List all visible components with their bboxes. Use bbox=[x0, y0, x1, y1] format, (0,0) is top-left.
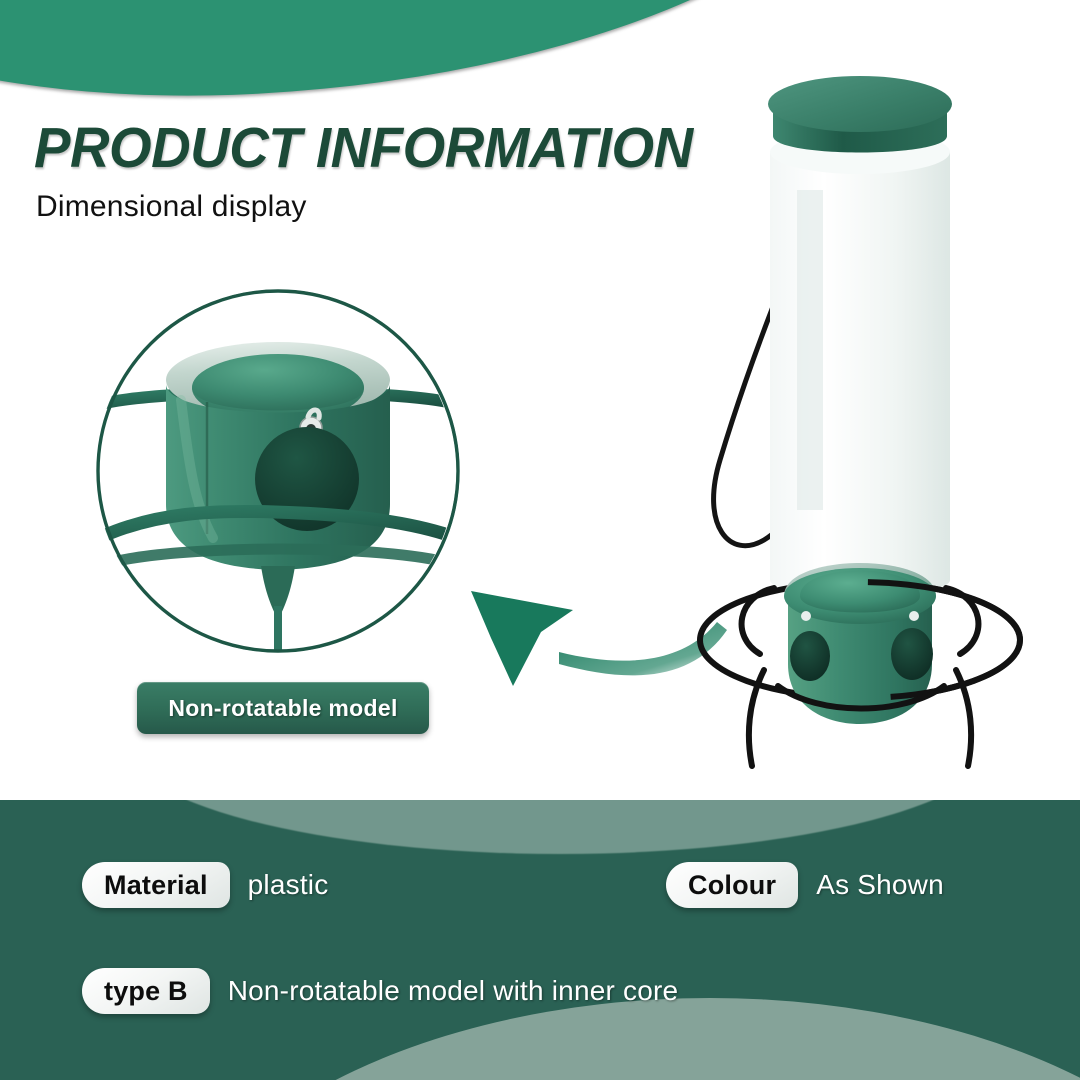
spec-row-material: Material plastic bbox=[82, 862, 328, 908]
product-information-graphic: PRODUCT INFORMATION Dimensional display bbox=[0, 0, 1080, 1080]
spec-label-colour: Colour bbox=[666, 862, 798, 908]
spec-value-type: Non-rotatable model with inner core bbox=[228, 975, 679, 1007]
spec-label-type: type B bbox=[82, 968, 210, 1014]
spec-label-material: Material bbox=[82, 862, 230, 908]
spec-row-colour: Colour As Shown bbox=[666, 862, 944, 908]
spec-value-colour: As Shown bbox=[816, 869, 944, 901]
spec-row-type: type B Non-rotatable model with inner co… bbox=[82, 968, 678, 1014]
specifications-rows: Material plastic Colour As Shown type B … bbox=[0, 0, 1080, 1080]
spec-value-material: plastic bbox=[248, 869, 329, 901]
